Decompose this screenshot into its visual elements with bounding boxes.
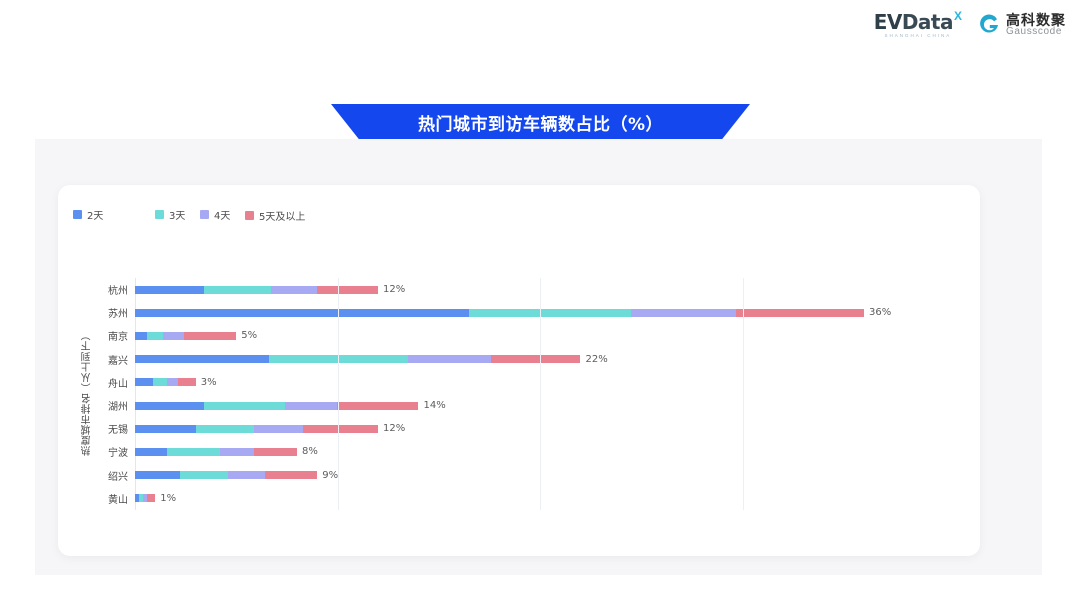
bar-segment-2天[interactable] xyxy=(135,425,196,433)
evdata-tagline: shanghai china xyxy=(884,34,951,39)
stacked-bar[interactable] xyxy=(135,494,155,502)
bar-value-label: 1% xyxy=(160,493,176,504)
bar-segment-4天[interactable] xyxy=(167,378,177,386)
page-title: 热门城市到访车辆数占比（%） xyxy=(418,110,663,135)
stacked-bar[interactable] xyxy=(135,332,236,340)
bar-segment-2天[interactable] xyxy=(135,471,180,479)
gausscode-en-text: Gausscode xyxy=(1006,27,1066,38)
bar-segment-2天[interactable] xyxy=(135,332,147,340)
stacked-bar[interactable] xyxy=(135,355,580,363)
bar-segment-3天[interactable] xyxy=(196,425,255,433)
bar-value-label: 5% xyxy=(241,330,257,341)
bar-segment-2天[interactable] xyxy=(135,286,204,294)
stacked-bar-chart: 热度城市排名（从上到下） 杭州苏州南京嘉兴舟山湖州无锡宁波绍兴黄山 12%36%… xyxy=(58,185,980,556)
stacked-bar[interactable] xyxy=(135,448,297,456)
evdata-wordmark: EVData X xyxy=(874,12,962,32)
title-banner: 热门城市到访车辆数占比（%） xyxy=(331,104,750,141)
stacked-bar[interactable] xyxy=(135,286,378,294)
bar-segment-4天[interactable] xyxy=(285,402,338,410)
bar-segment-2天[interactable] xyxy=(135,448,167,456)
bar-segment-5天及以上[interactable] xyxy=(184,332,237,340)
bar-value-label: 12% xyxy=(383,423,405,434)
stacked-bar[interactable] xyxy=(135,471,317,479)
gausscode-logo: 高科数聚 Gausscode xyxy=(978,13,1066,38)
bar-value-label: 12% xyxy=(383,284,405,295)
bar-segment-5天及以上[interactable] xyxy=(317,286,378,294)
bar-value-label: 22% xyxy=(585,354,607,365)
bar-segment-3天[interactable] xyxy=(147,332,163,340)
evdata-logo: EVData X shanghai china xyxy=(874,12,962,39)
bar-segment-3天[interactable] xyxy=(469,309,631,317)
bar-value-label: 3% xyxy=(201,377,217,388)
bar-segment-5天及以上[interactable] xyxy=(265,471,318,479)
bar-segment-3天[interactable] xyxy=(269,355,409,363)
bar-segment-4天[interactable] xyxy=(631,309,736,317)
y-axis-label-湖州: 湖州 xyxy=(66,394,128,417)
y-axis-label-南京: 南京 xyxy=(66,324,128,347)
gausscode-wordmark: 高科数聚 Gausscode xyxy=(1006,13,1066,38)
y-axis-category-labels: 杭州苏州南京嘉兴舟山湖州无锡宁波绍兴黄山 xyxy=(58,278,128,510)
bar-segment-2天[interactable] xyxy=(135,309,469,317)
evdata-ev-text: EVData xyxy=(874,12,953,32)
bar-segment-4天[interactable] xyxy=(271,286,318,294)
gridline-30 xyxy=(743,278,744,510)
bar-segment-2天[interactable] xyxy=(135,378,153,386)
y-axis-label-舟山: 舟山 xyxy=(66,371,128,394)
gridline-10 xyxy=(338,278,339,510)
y-axis-label-苏州: 苏州 xyxy=(66,301,128,324)
bar-value-label: 14% xyxy=(423,400,445,411)
y-axis-label-黄山: 黄山 xyxy=(66,487,128,510)
g-circle-icon xyxy=(978,14,1000,36)
stacked-bar[interactable] xyxy=(135,378,196,386)
bar-segment-2天[interactable] xyxy=(135,402,204,410)
bar-segment-4天[interactable] xyxy=(163,332,183,340)
bar-segment-3天[interactable] xyxy=(204,286,271,294)
bar-segment-5天及以上[interactable] xyxy=(147,494,155,502)
bar-segment-5天及以上[interactable] xyxy=(491,355,580,363)
bar-segment-3天[interactable] xyxy=(153,378,167,386)
bar-segment-5天及以上[interactable] xyxy=(736,309,864,317)
plot-area: 12%36%5%22%3%14%12%8%9%1% xyxy=(135,278,945,510)
brand-logo-bar: EVData X shanghai china 高科数聚 Gausscode xyxy=(874,12,1066,39)
bar-segment-4天[interactable] xyxy=(220,448,254,456)
y-axis-label-绍兴: 绍兴 xyxy=(66,464,128,487)
bar-value-label: 9% xyxy=(322,470,338,481)
stacked-bar[interactable] xyxy=(135,425,378,433)
bar-segment-5天及以上[interactable] xyxy=(303,425,378,433)
bar-segment-3天[interactable] xyxy=(167,448,220,456)
stacked-bar[interactable] xyxy=(135,309,864,317)
bar-segment-4天[interactable] xyxy=(254,425,303,433)
bar-segment-5天及以上[interactable] xyxy=(254,448,297,456)
bar-segment-3天[interactable] xyxy=(204,402,285,410)
bar-segment-4天[interactable] xyxy=(408,355,491,363)
bar-segment-3天[interactable] xyxy=(180,471,229,479)
bar-segment-2天[interactable] xyxy=(135,355,269,363)
evdata-x-icon: X xyxy=(954,10,962,22)
y-axis-label-宁波: 宁波 xyxy=(66,440,128,463)
gridline-20 xyxy=(540,278,541,510)
y-axis-label-嘉兴: 嘉兴 xyxy=(66,348,128,371)
stacked-bar[interactable] xyxy=(135,402,418,410)
bar-value-label: 36% xyxy=(869,307,891,318)
bar-segment-5天及以上[interactable] xyxy=(337,402,418,410)
bar-segment-4天[interactable] xyxy=(228,471,264,479)
y-axis-label-无锡: 无锡 xyxy=(66,417,128,440)
bar-segment-5天及以上[interactable] xyxy=(178,378,196,386)
y-axis-label-杭州: 杭州 xyxy=(66,278,128,301)
bar-value-label: 8% xyxy=(302,446,318,457)
gausscode-cn-text: 高科数聚 xyxy=(1006,13,1066,28)
